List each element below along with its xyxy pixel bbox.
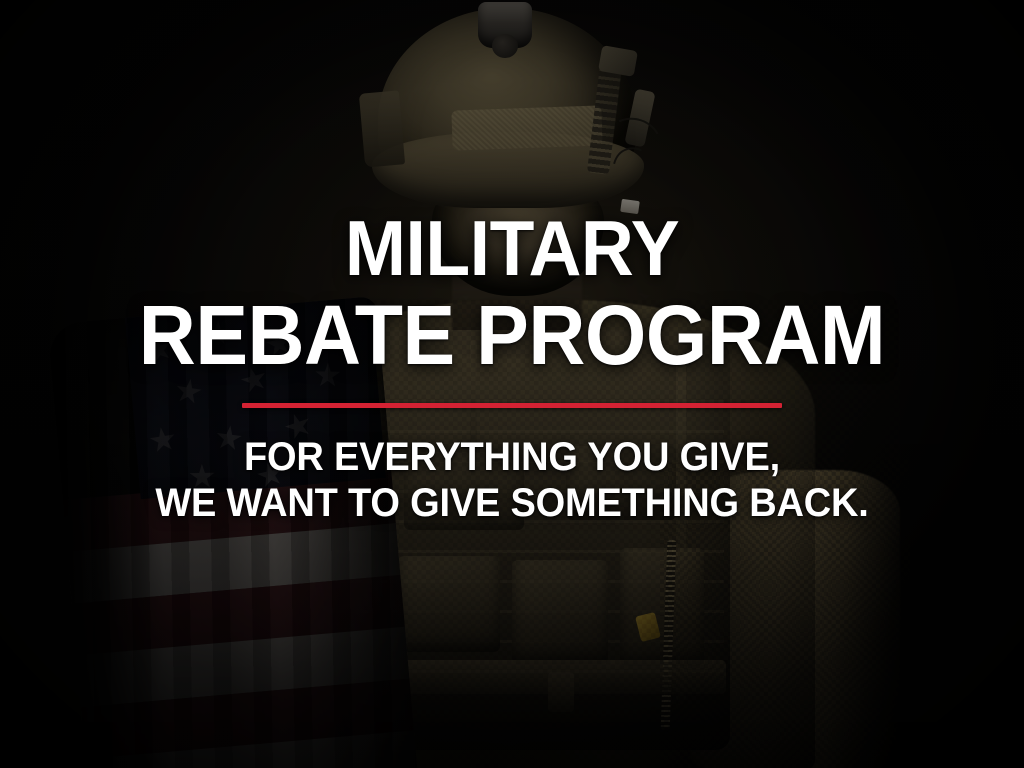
headline-line-2: REBATE PROGRAM xyxy=(31,294,994,376)
divider-container xyxy=(0,403,1024,408)
red-divider-rule xyxy=(242,403,782,408)
banner-content: MILITARY REBATE PROGRAM FOR EVERYTHING Y… xyxy=(0,0,1024,768)
page-title: MILITARY REBATE PROGRAM xyxy=(31,0,994,377)
tagline: FOR EVERYTHING YOU GIVE, WE WANT TO GIVE… xyxy=(26,434,999,527)
headline-line-1: MILITARY xyxy=(31,210,994,286)
tagline-line-1: FOR EVERYTHING YOU GIVE, xyxy=(26,434,999,480)
military-rebate-banner: MILITARY REBATE PROGRAM FOR EVERYTHING Y… xyxy=(0,0,1024,768)
tagline-line-2: WE WANT TO GIVE SOMETHING BACK. xyxy=(26,480,999,526)
